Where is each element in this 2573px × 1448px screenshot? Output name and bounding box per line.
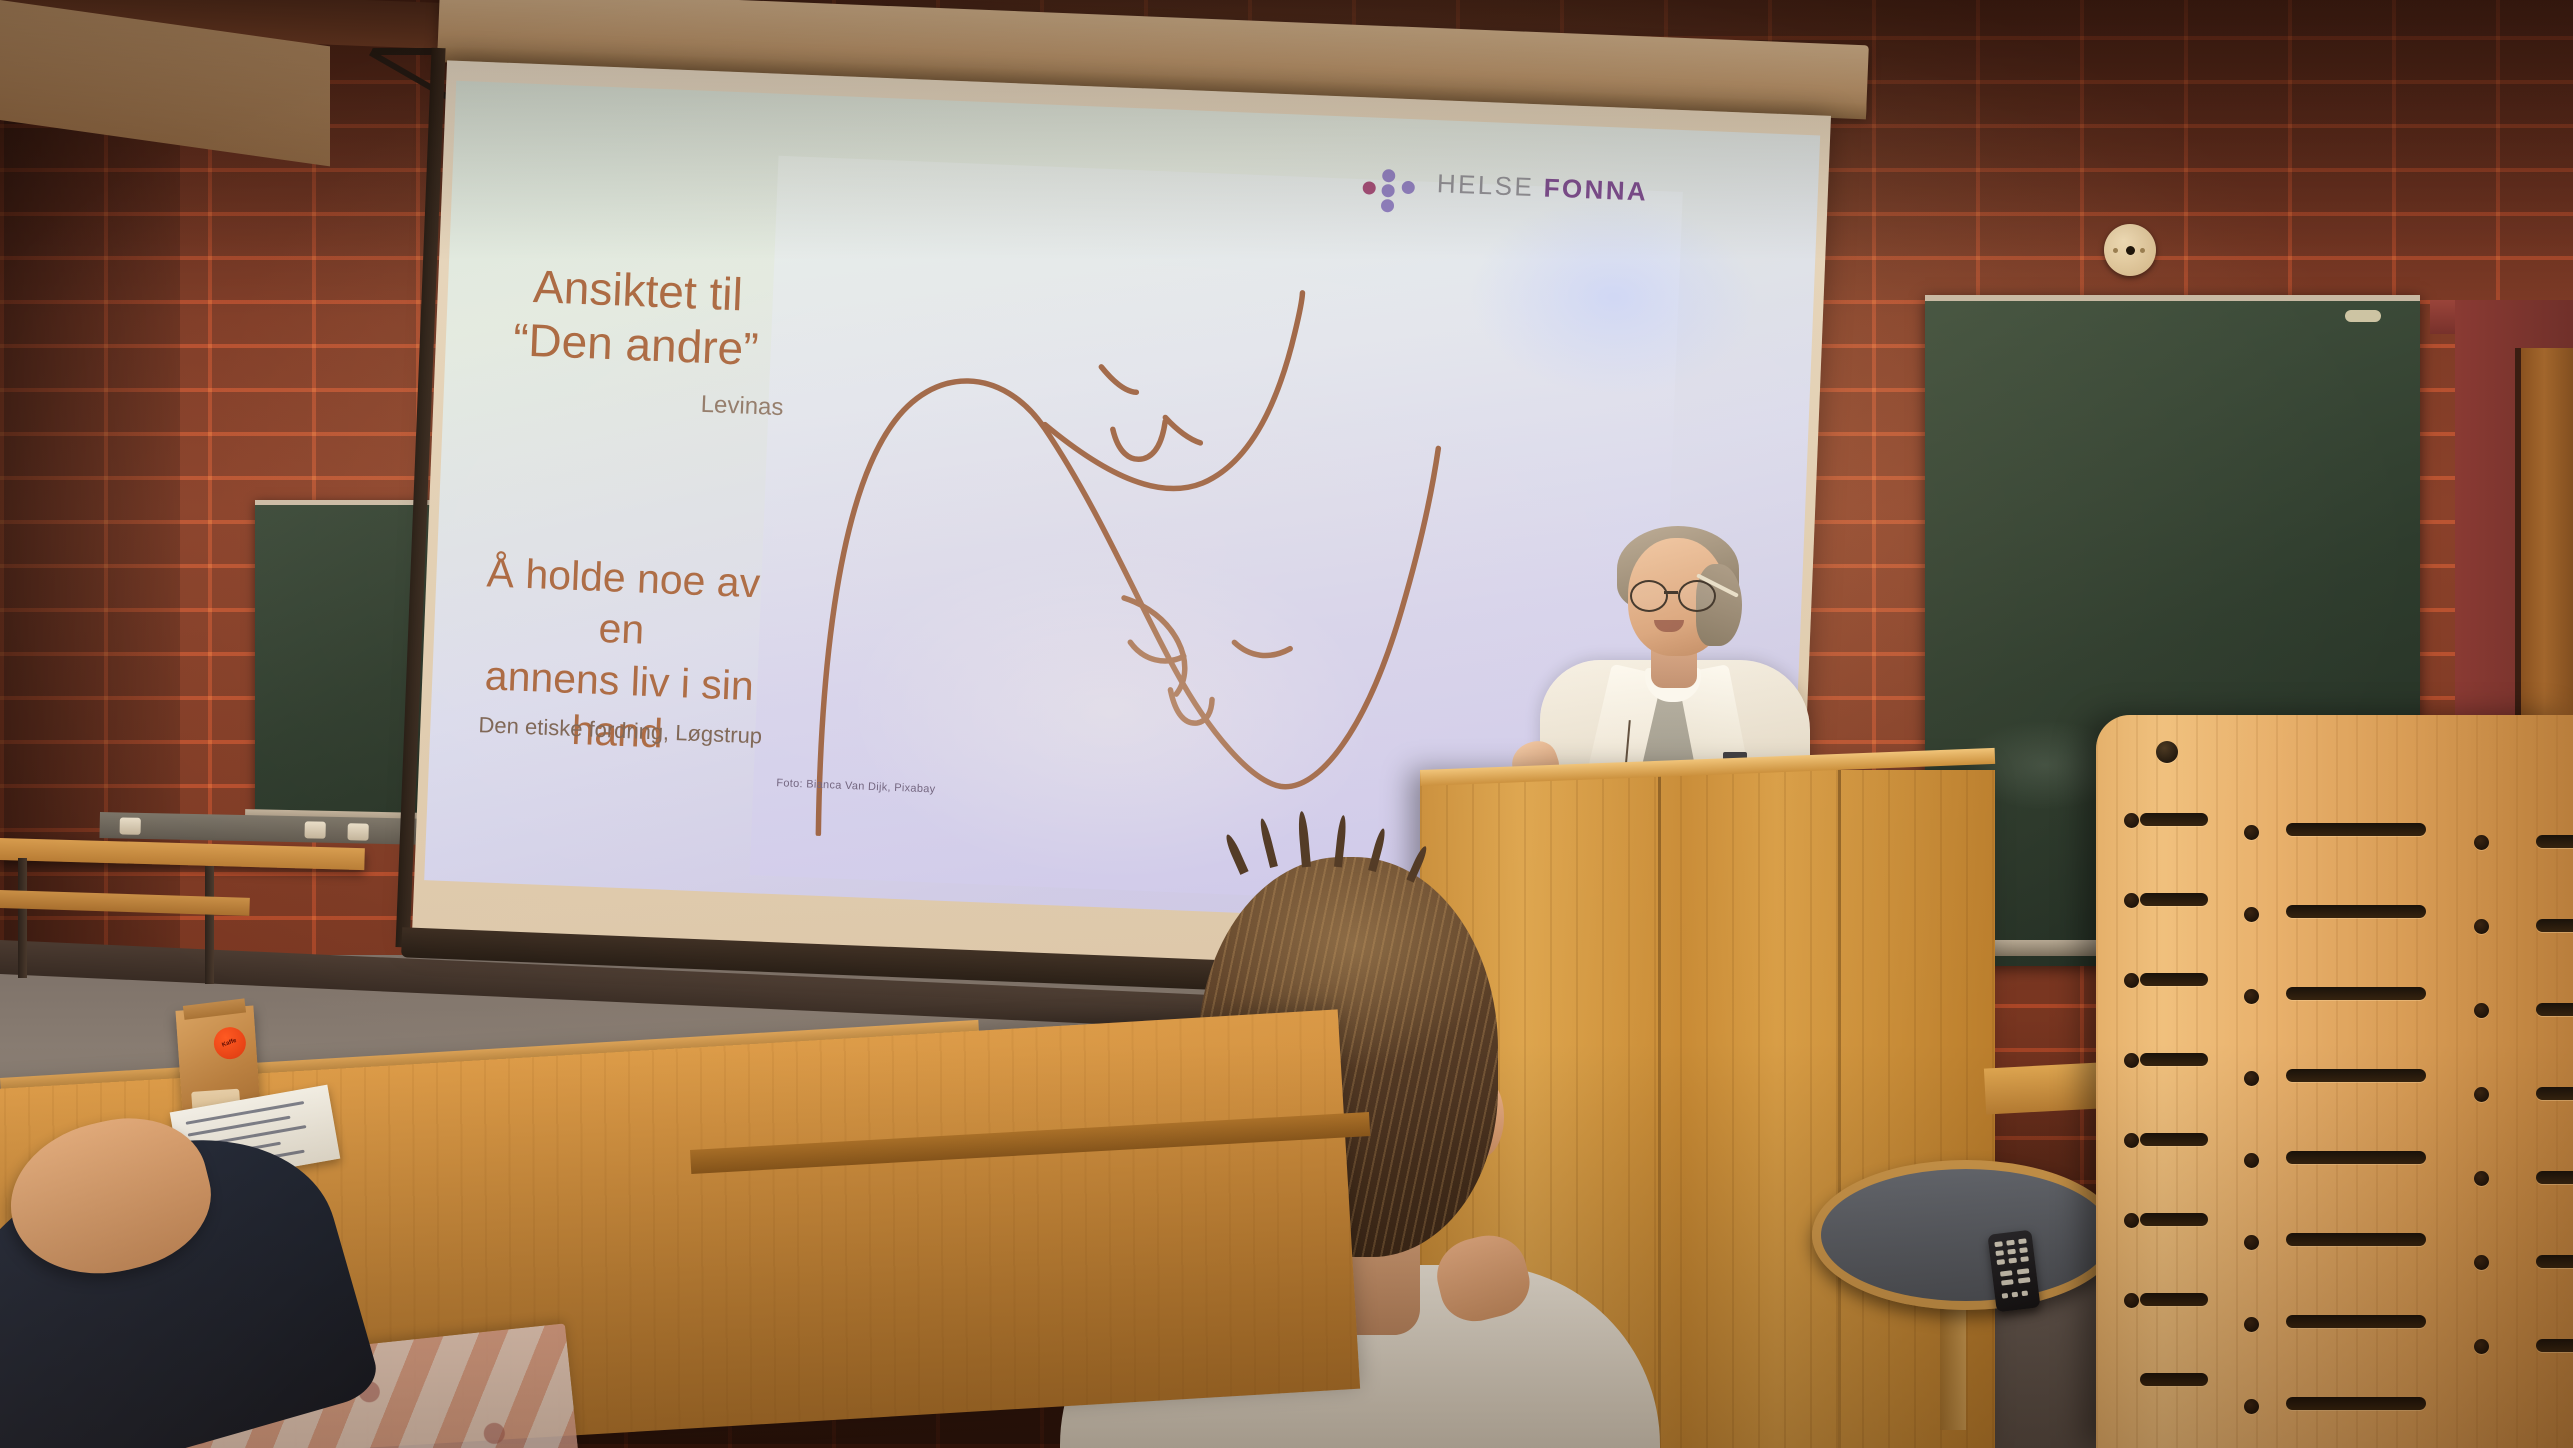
chalk-piece[interactable] [2345, 310, 2381, 322]
acoustic-hole [2124, 813, 2139, 828]
remote-control[interactable] [1987, 1230, 2040, 1313]
acoustic-hole [2124, 1053, 2139, 1068]
acoustic-hole [2124, 893, 2139, 908]
slide-title: Ansiktet til “Den andre” [485, 257, 789, 377]
acoustic-slot [2140, 1053, 2208, 1066]
table-leg [205, 866, 214, 984]
paper-bag-sticker-label: Kaffe [222, 1038, 238, 1049]
acoustic-slot [2536, 1171, 2573, 1184]
power-socket[interactable] [120, 817, 141, 834]
acoustic-slot [2140, 813, 2208, 826]
acoustic-slot [2536, 1339, 2573, 1352]
acoustic-slot [2536, 919, 2573, 932]
power-socket[interactable] [304, 821, 325, 838]
acoustic-hole [2474, 1003, 2489, 1018]
eyeglass-lens-right [1678, 580, 1716, 612]
acoustic-slot [2286, 1397, 2426, 1410]
acoustic-slot [2536, 1255, 2573, 1268]
acoustic-hole [2244, 825, 2259, 840]
acoustic-slot [2140, 1293, 2208, 1306]
acoustic-hole [2124, 973, 2139, 988]
slide-title-line2: “Den andre” [485, 311, 787, 377]
lectern-panel-seam [1658, 770, 1661, 1448]
acoustic-panel-screw [2156, 741, 2178, 763]
acoustic-slot [2286, 823, 2426, 836]
slide-title-source: Levinas [483, 382, 802, 423]
acoustic-hole [2124, 1133, 2139, 1148]
wall-plate-screw [2140, 248, 2145, 253]
acoustic-slot [2286, 1069, 2426, 1082]
acoustic-hole [2244, 1235, 2259, 1250]
lecture-hall-scene: HELSE FONNA [0, 0, 2573, 1448]
acoustic-slot [2140, 893, 2208, 906]
acoustic-slot [2140, 1373, 2208, 1386]
acoustic-slot [2140, 973, 2208, 986]
paper-bag-sticker: Kaffe [213, 1026, 247, 1060]
acoustic-hole [2474, 1339, 2489, 1354]
acoustic-hole [2244, 989, 2259, 1004]
round-wall-plate [2104, 224, 2156, 276]
acoustic-hole [2474, 919, 2489, 934]
acoustic-slot [2536, 835, 2573, 848]
student-hair-spike [1258, 818, 1278, 868]
acoustic-slot [2286, 1233, 2426, 1246]
acoustic-hole [2244, 1071, 2259, 1086]
curved-slatted-acoustic-panel [2096, 715, 2573, 1448]
eyeglass-bridge [1664, 591, 1678, 594]
acoustic-slot [2286, 1151, 2426, 1164]
acoustic-hole [2124, 1213, 2139, 1228]
slide-quote-line1: Å holde noe av en [455, 546, 789, 662]
acoustic-hole [2474, 1171, 2489, 1186]
eyeglass-lens-left [1630, 580, 1668, 612]
logo-wordmark: HELSE FONNA [1436, 168, 1648, 207]
slide-highlight-glow [1465, 192, 1763, 403]
acoustic-slot [2286, 987, 2426, 1000]
acoustic-hole [2474, 1087, 2489, 1102]
student-hair-spike [1223, 833, 1248, 875]
acoustic-slot [2140, 1133, 2208, 1146]
acoustic-hole [2244, 1399, 2259, 1414]
acoustic-slot [2536, 1087, 2573, 1100]
lectern-panel-seam [1838, 770, 1841, 1448]
acoustic-slot [2286, 1315, 2426, 1328]
acoustic-slot [2286, 905, 2426, 918]
acoustic-hole [2244, 907, 2259, 922]
logo-word-fonna: FONNA [1543, 172, 1649, 206]
wall-plate-screw [2113, 248, 2118, 253]
power-socket[interactable] [347, 823, 368, 840]
round-side-table [1812, 1160, 2120, 1310]
acoustic-hole [2474, 835, 2489, 850]
acoustic-slot [2140, 1213, 2208, 1226]
acoustic-slot [2536, 1003, 2573, 1016]
acoustic-hole [2244, 1153, 2259, 1168]
student-hair-spike [1297, 811, 1311, 868]
acoustic-hole [2474, 1255, 2489, 1270]
wall-plate-hub [2126, 246, 2135, 255]
table-leg [18, 858, 27, 978]
acoustic-hole [2124, 1293, 2139, 1308]
acoustic-hole [2244, 1317, 2259, 1332]
logo-dots-icon [1362, 157, 1422, 205]
two-faces-line-art-illustration [796, 255, 1479, 861]
logo-word-helse: HELSE [1436, 168, 1534, 202]
